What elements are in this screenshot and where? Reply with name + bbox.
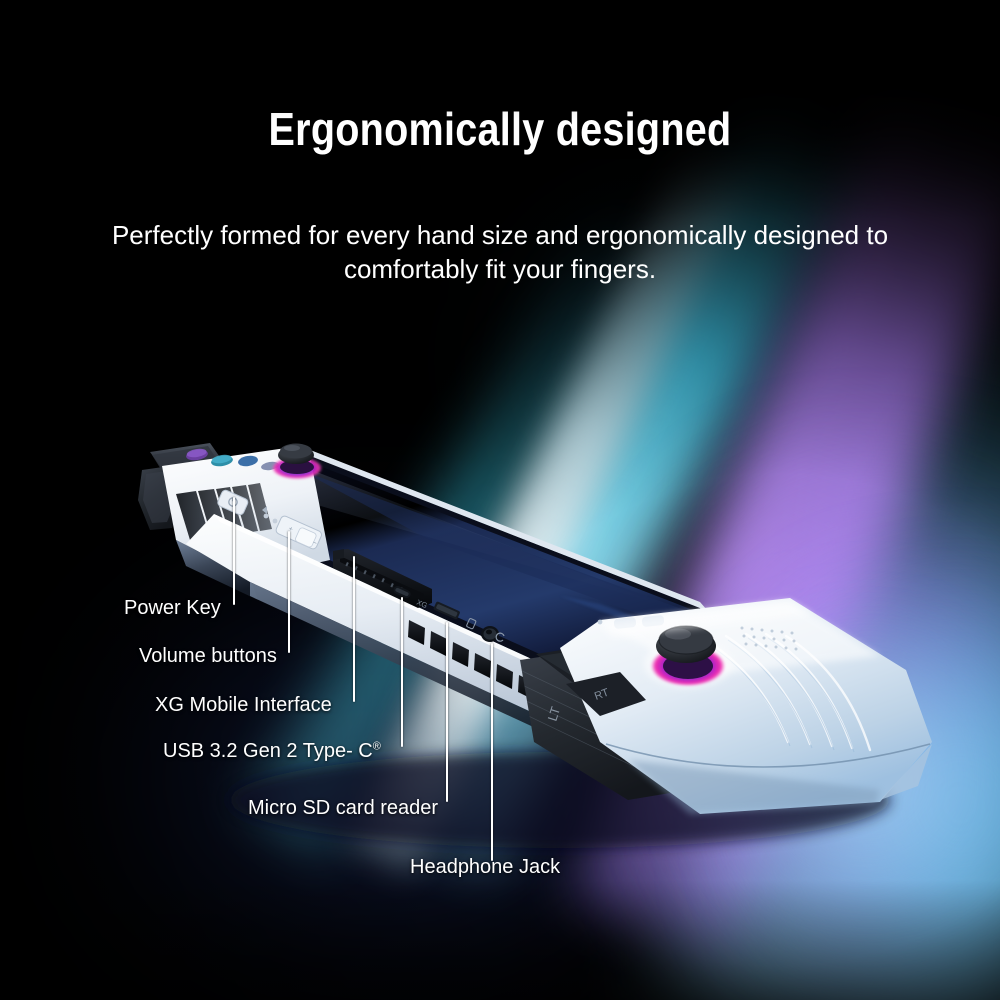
product-feature-slide: Ergonomically designed Perfectly formed …	[0, 0, 1000, 1000]
registered-trademark-symbol: ®	[373, 740, 381, 752]
leader-line-volume-buttons	[288, 531, 290, 653]
callout-label-usb-type-c: USB 3.2 Gen 2 Type- C®	[163, 740, 381, 763]
callout-label-headphone-jack: Headphone Jack	[410, 856, 560, 879]
leader-line-xg-mobile-interface	[353, 556, 355, 702]
callout-label-xg-mobile-interface: XG Mobile Interface	[155, 694, 332, 717]
leader-line-headphone-jack	[491, 643, 493, 861]
leader-line-power-key	[233, 497, 235, 605]
callout-label-volume-buttons: Volume buttons	[139, 645, 277, 668]
leader-line-usb-type-c	[401, 597, 403, 747]
left-thumbstick[interactable]	[272, 444, 322, 480]
device-illustration: + − XG	[0, 0, 1000, 1000]
leader-line-micro-sd-card-reader	[446, 622, 448, 802]
callout-label-power-key: Power Key	[124, 597, 221, 620]
callout-label-micro-sd-card-reader: Micro SD card reader	[248, 797, 438, 820]
